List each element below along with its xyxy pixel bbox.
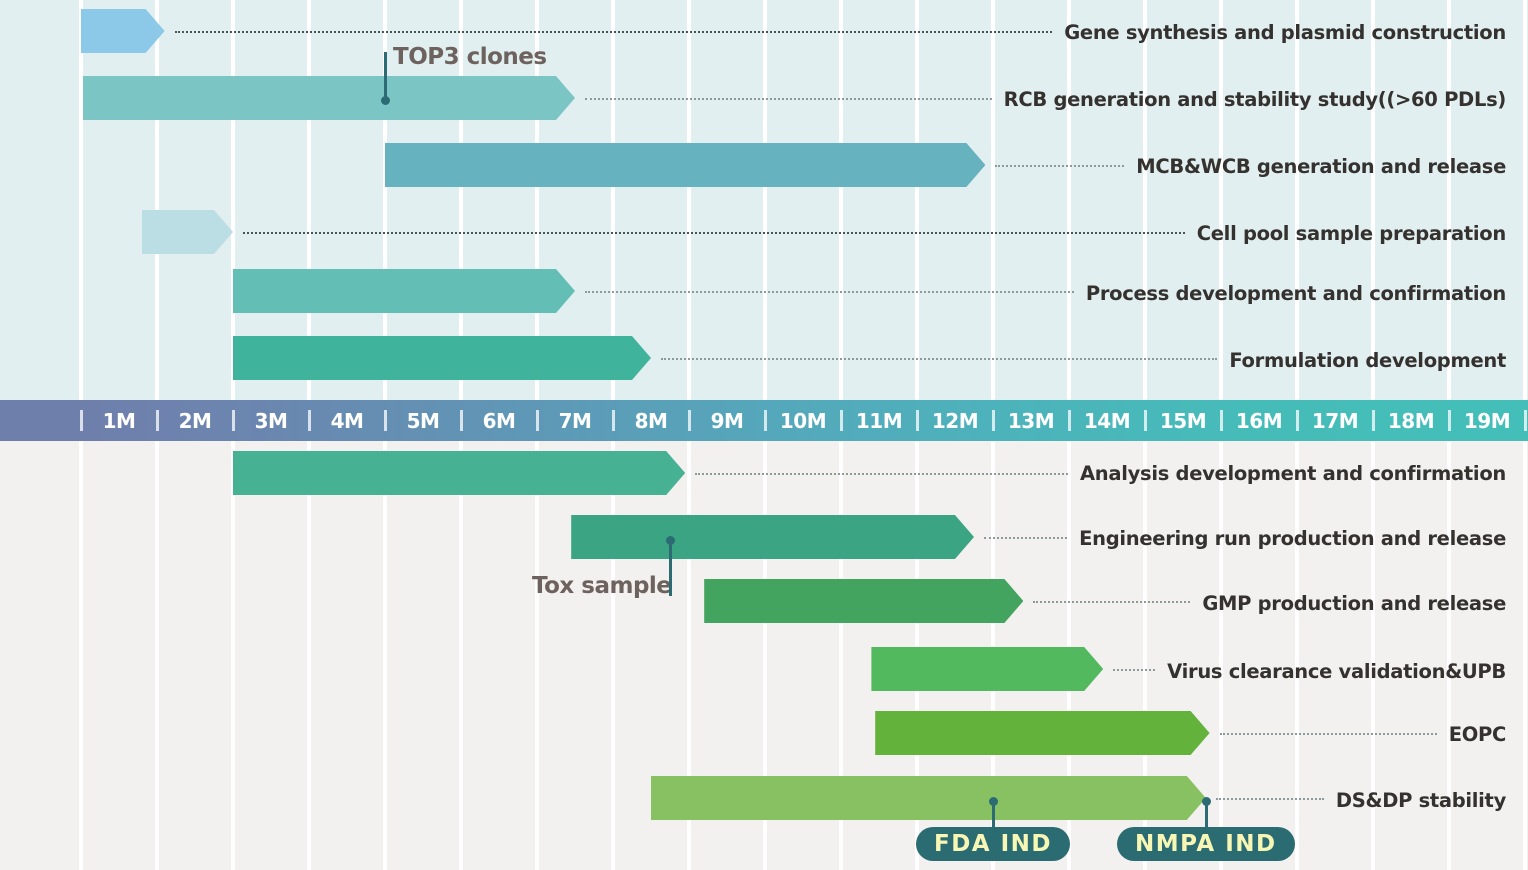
task-label-engineering-run-production-and-release: Engineering run production and release xyxy=(1079,527,1506,550)
task-label-process-development-and-confirmation: Process development and confirmation xyxy=(1086,282,1506,305)
gantt-bar-virus-clearance-validation-upb[interactable] xyxy=(871,647,1103,691)
timeline-tick-9M[interactable]: 9M xyxy=(689,400,765,441)
timeline-tick-16M[interactable]: 16M xyxy=(1221,400,1297,441)
task-label-eopc: EOPC xyxy=(1449,723,1506,746)
leader-line-gene-synthesis-and-plasmid-construction xyxy=(175,31,1053,33)
task-label-formulation-development: Formulation development xyxy=(1229,349,1506,372)
task-label-gmp-production-and-release: GMP production and release xyxy=(1202,592,1506,615)
timeline-tick-18M[interactable]: 18M xyxy=(1373,400,1449,441)
task-label-gene-synthesis-and-plasmid-construction: Gene synthesis and plasmid construction xyxy=(1064,21,1506,44)
gantt-bar-engineering-run-production-and-release[interactable] xyxy=(571,515,974,559)
timeline-tick-10M[interactable]: 10M xyxy=(765,400,841,441)
timeline-tick-4M[interactable]: 4M xyxy=(309,400,385,441)
gantt-bar-formulation-development[interactable] xyxy=(233,336,651,380)
timeline-separator-15 xyxy=(1220,410,1223,431)
leader-line-cell-pool-sample-preparation xyxy=(243,232,1185,234)
gantt-chart: Gene synthesis and plasmid constructionR… xyxy=(0,0,1528,870)
annotation-pin-dot-tox-sample xyxy=(666,536,675,545)
task-label-mcb-wcb-generation-and-release: MCB&WCB generation and release xyxy=(1136,155,1506,178)
timeline-separator-12 xyxy=(992,410,995,431)
milestone-badge-nmpa-ind[interactable]: NMPA IND xyxy=(1117,827,1295,861)
timeline-tick-3M[interactable]: 3M xyxy=(233,400,309,441)
timeline-separator-18 xyxy=(1448,410,1451,431)
task-label-virus-clearance-validation-upb: Virus clearance validation&UPB xyxy=(1167,660,1506,683)
annotation-pin-dot-top3-clones xyxy=(381,96,390,105)
gantt-bar-gmp-production-and-release[interactable] xyxy=(704,579,1023,623)
timeline-separator-8 xyxy=(688,410,691,431)
leader-line-virus-clearance-validation-upb xyxy=(1113,669,1155,671)
gantt-bar-ds-dp-stability[interactable] xyxy=(651,776,1206,820)
task-label-rcb-generation-and-stability-study-60-pdls: RCB generation and stability study((>60 … xyxy=(1004,88,1506,111)
gantt-bar-rcb-generation-and-stability-study-60-pdls[interactable] xyxy=(83,76,575,120)
gantt-bar-analysis-development-and-confirmation[interactable] xyxy=(233,451,685,495)
timeline-tick-7M[interactable]: 7M xyxy=(537,400,613,441)
timeline-separator-16 xyxy=(1296,410,1299,431)
gantt-bar-eopc[interactable] xyxy=(875,711,1209,755)
timeline-separator-6 xyxy=(536,410,539,431)
task-label-analysis-development-and-confirmation: Analysis development and confirmation xyxy=(1080,462,1506,485)
timeline-separator-10 xyxy=(840,410,843,431)
timeline-tick-15M[interactable]: 15M xyxy=(1145,400,1221,441)
timeline-separator-0 xyxy=(80,410,83,431)
timeline-tick-5M[interactable]: 5M xyxy=(385,400,461,441)
timeline-separator-4 xyxy=(384,410,387,431)
leader-line-ds-dp-stability xyxy=(1216,798,1324,800)
timeline-tick-17M[interactable]: 17M xyxy=(1297,400,1373,441)
timeline-tick-8M[interactable]: 8M xyxy=(613,400,689,441)
timeline-tick-1M[interactable]: 1M xyxy=(81,400,157,441)
timeline-separator-7 xyxy=(612,410,615,431)
gantt-bar-mcb-wcb-generation-and-release[interactable] xyxy=(385,143,985,187)
timeline-tick-2M[interactable]: 2M xyxy=(157,400,233,441)
timeline-separator-11 xyxy=(916,410,919,431)
timeline-axis[interactable]: 1M2M3M4M5M6M7M8M9M10M11M12M13M14M15M16M1… xyxy=(0,400,1528,441)
timeline-separator-2 xyxy=(232,410,235,431)
timeline-separator-9 xyxy=(764,410,767,431)
timeline-separator-13 xyxy=(1068,410,1071,431)
milestone-badge-fda-ind[interactable]: FDA IND xyxy=(916,827,1070,861)
leader-line-engineering-run-production-and-release xyxy=(984,537,1067,539)
timeline-separator-5 xyxy=(460,410,463,431)
timeline-tick-6M[interactable]: 6M xyxy=(461,400,537,441)
task-label-cell-pool-sample-preparation: Cell pool sample preparation xyxy=(1197,222,1506,245)
leader-line-gmp-production-and-release xyxy=(1033,601,1190,603)
timeline-separator-1 xyxy=(156,410,159,431)
leader-line-analysis-development-and-confirmation xyxy=(695,473,1068,475)
timeline-tick-19M[interactable]: 19M xyxy=(1449,400,1525,441)
milestone-dot-fda-ind xyxy=(989,797,998,806)
leader-line-rcb-generation-and-stability-study-60-pdls xyxy=(585,98,992,100)
annotation-tox-sample: Tox sample xyxy=(532,573,671,599)
leader-line-formulation-development xyxy=(661,358,1217,360)
timeline-separator-end xyxy=(1524,410,1527,431)
leader-line-process-development-and-confirmation xyxy=(585,291,1074,293)
leader-line-mcb-wcb-generation-and-release xyxy=(995,165,1124,167)
annotation-top3-clones: TOP3 clones xyxy=(393,44,547,70)
annotation-pin-line-tox-sample xyxy=(669,540,672,596)
gantt-bar-cell-pool-sample-preparation[interactable] xyxy=(142,210,233,254)
milestone-dot-nmpa-ind xyxy=(1202,797,1211,806)
gantt-bar-process-development-and-confirmation[interactable] xyxy=(233,269,575,313)
timeline-separator-17 xyxy=(1372,410,1375,431)
task-label-ds-dp-stability: DS&DP stability xyxy=(1336,789,1506,812)
timeline-separator-14 xyxy=(1144,410,1147,431)
timeline-tick-13M[interactable]: 13M xyxy=(993,400,1069,441)
timeline-tick-11M[interactable]: 11M xyxy=(841,400,917,441)
timeline-tick-12M[interactable]: 12M xyxy=(917,400,993,441)
timeline-separator-3 xyxy=(308,410,311,431)
timeline-tick-14M[interactable]: 14M xyxy=(1069,400,1145,441)
annotation-pin-line-top3-clones xyxy=(384,52,387,100)
leader-line-eopc xyxy=(1220,733,1437,735)
